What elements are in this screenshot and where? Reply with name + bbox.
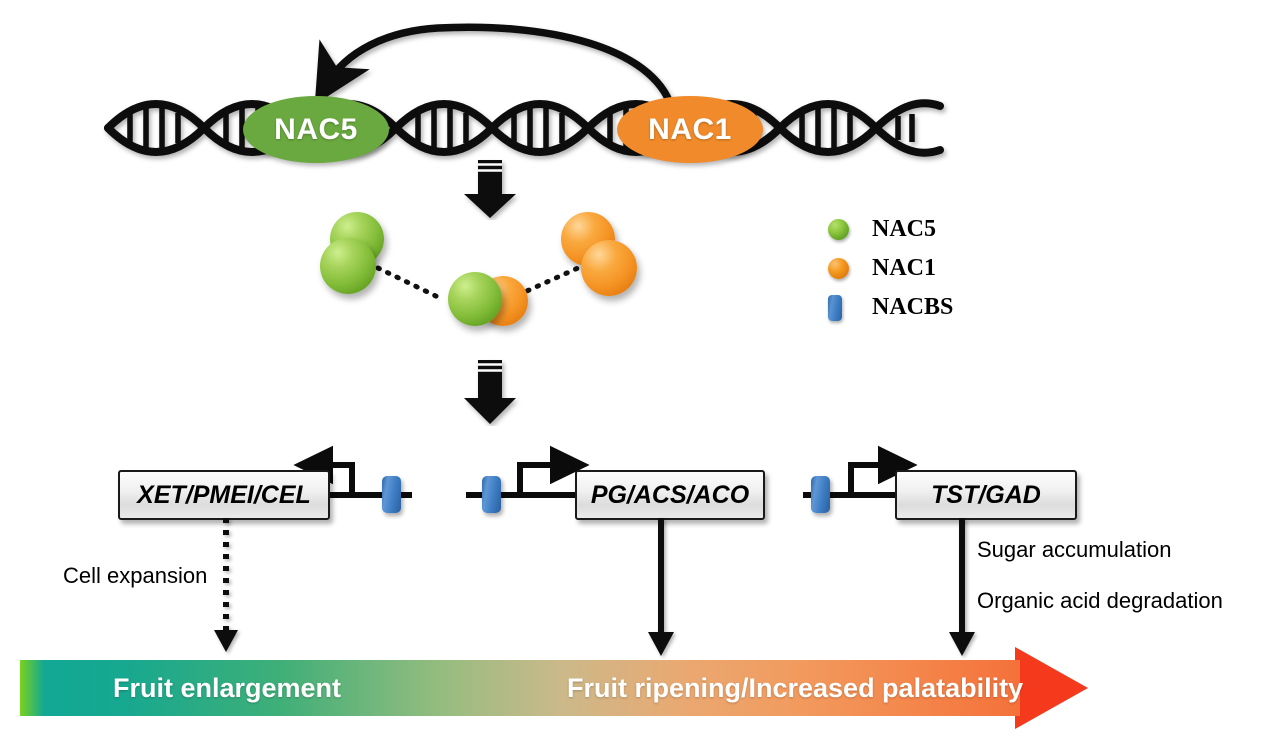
dna-tf-nac1-label: NAC1 bbox=[648, 113, 732, 147]
legend-item-nac1: NAC1 bbox=[828, 249, 1028, 288]
legend-item-nac5: NAC5 bbox=[828, 210, 1028, 249]
cell-expansion-label: Cell expansion bbox=[63, 563, 207, 589]
dna-tf-nac1: NAC1 bbox=[617, 96, 763, 163]
complex-nac1-homodimer-sphere-b bbox=[581, 240, 637, 296]
target-gene-box-tst-gad-label: TST/GAD bbox=[931, 481, 1041, 510]
cell-expansion-dotted-arrow bbox=[214, 518, 238, 652]
dna-double-helix bbox=[108, 103, 940, 153]
legend-item-nacbs: NACBS bbox=[828, 288, 1028, 327]
dna-tf-nac5: NAC5 bbox=[243, 96, 389, 163]
fruit-ripening-solid-arrow bbox=[648, 518, 674, 656]
outcome-bar-left-label: Fruit enlargement bbox=[113, 673, 341, 704]
legend: NAC5 NAC1 NACBS bbox=[828, 210, 1028, 327]
outcome-bar-right-label: Fruit ripening/Increased palatability bbox=[567, 673, 1023, 704]
legend-item-nac5-label: NAC5 bbox=[872, 216, 936, 243]
nac1-to-nac5-regulation-arrow bbox=[327, 27, 673, 113]
nacbs-site-gene2 bbox=[482, 476, 501, 513]
nacbs-site-gene3 bbox=[811, 476, 830, 513]
complex-to-targets-arrow bbox=[452, 358, 528, 426]
target-gene-box-xet-pmei-cel-label: XET/PMEI/CEL bbox=[137, 481, 311, 510]
outcome-arrowhead bbox=[1015, 647, 1088, 729]
blue-box-icon bbox=[828, 295, 858, 321]
figure-canvas: NAC5 NAC1 NAC5 bbox=[0, 0, 1269, 739]
green-sphere-icon bbox=[828, 219, 858, 240]
dna-tf-nac5-label: NAC5 bbox=[274, 113, 358, 147]
complex-nac5-homodimer-sphere-b bbox=[320, 238, 376, 294]
organic-acid-degradation-label: Organic acid degradation bbox=[977, 588, 1223, 614]
target-gene-box-pg-acs-aco-label: PG/ACS/ACO bbox=[591, 481, 749, 510]
sugar-acid-solid-arrow bbox=[949, 518, 975, 656]
nacbs-site-gene1 bbox=[382, 476, 401, 513]
fruit-outcome-gradient-arrow: Fruit enlargement Fruit ripening/Increas… bbox=[20, 660, 1088, 716]
sugar-accumulation-label: Sugar accumulation bbox=[977, 537, 1171, 563]
orange-sphere-icon bbox=[828, 258, 858, 279]
legend-item-nacbs-label: NACBS bbox=[872, 294, 953, 321]
complex-heterodimer-nac5-sphere bbox=[448, 272, 502, 326]
legend-item-nac1-label: NAC1 bbox=[872, 255, 936, 282]
